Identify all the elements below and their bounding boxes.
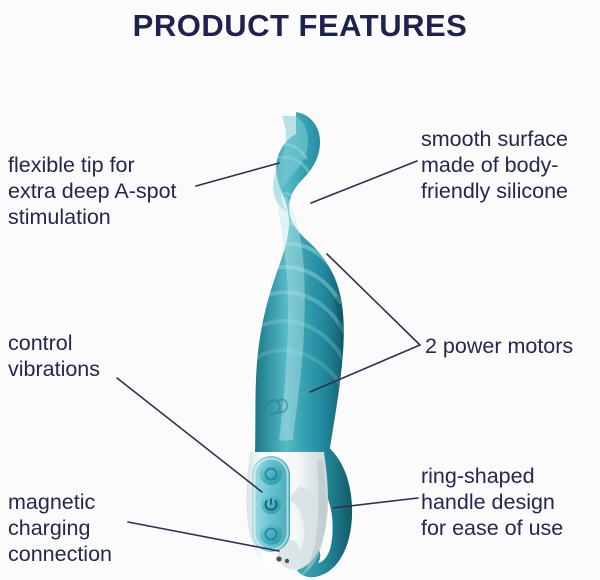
label-line: control (8, 330, 100, 356)
label-line: handle design (421, 489, 563, 515)
label-line: charging (8, 515, 112, 541)
label-line: 2 power motors (425, 333, 573, 359)
up-button[interactable] (260, 463, 282, 485)
label-ring-handle: ring-shaped handle design for ease of us… (421, 463, 563, 541)
label-line: friendly silicone (421, 178, 568, 204)
label-line: connection (8, 541, 112, 567)
label-line: for ease of use (421, 515, 563, 541)
charging-contact-2 (285, 559, 289, 563)
label-line: vibrations (8, 356, 100, 382)
label-line: extra deep A-spot (8, 178, 177, 204)
label-line: made of body- (421, 152, 568, 178)
label-smooth-surface: smooth surface made of body- friendly si… (421, 126, 568, 204)
label-flexible-tip: flexible tip for extra deep A-spot stimu… (8, 152, 177, 230)
charging-contact-1 (276, 556, 281, 561)
label-line: flexible tip for (8, 152, 177, 178)
label-control-vibrations: control vibrations (8, 330, 100, 382)
product-features-infographic: PRODUCT FEATURES (0, 0, 600, 580)
label-line: ring-shaped (421, 463, 563, 489)
label-line: smooth surface (421, 126, 568, 152)
label-line: stimulation (8, 204, 177, 230)
down-button[interactable] (260, 523, 282, 545)
label-power-motors: 2 power motors (425, 333, 573, 359)
label-magnetic-charging: magnetic charging connection (8, 489, 112, 567)
label-line: magnetic (8, 489, 112, 515)
